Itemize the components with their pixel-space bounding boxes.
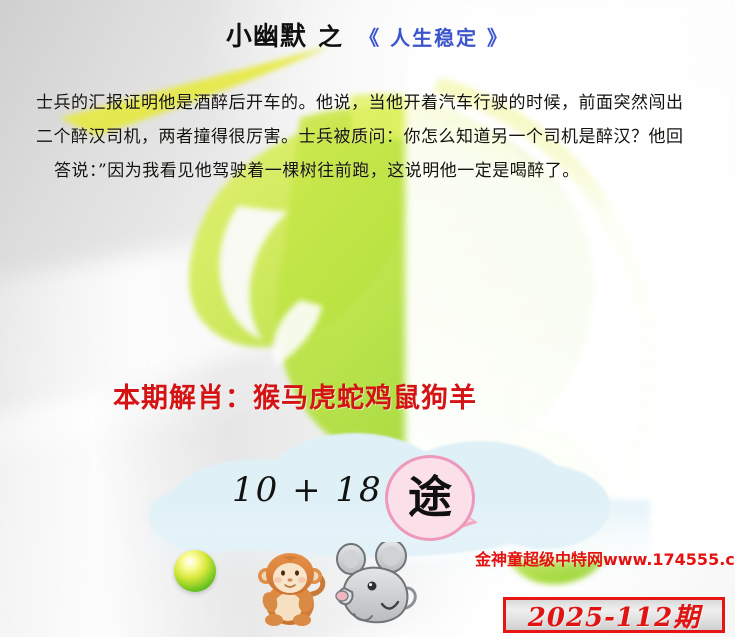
issue-badge: 2025-112期 bbox=[503, 597, 725, 633]
story-line-2: 二个醉汉司机，两者撞得很厉害。士兵被质问：你怎么知道另一个司机是醉汉？他回 bbox=[36, 120, 708, 154]
title-subtitle-text: 《 人生稳定 》 bbox=[359, 26, 509, 50]
monkey-icon bbox=[256, 546, 328, 632]
poster-title: 小幽默 之 《 人生稳定 》 bbox=[0, 16, 735, 53]
poster-canvas: 小幽默 之 《 人生稳定 》 士兵的汇报证明他是酒醉后开车的。他说，当他开着汽车… bbox=[0, 0, 735, 637]
title-main-text: 小幽默 bbox=[226, 22, 307, 52]
mouse-icon bbox=[334, 542, 418, 634]
story-line-3: 答说：”因为我看见他驾驶着一棵树往前跑，这说明他一定是喝醉了。 bbox=[36, 154, 708, 188]
answer-character: 途 bbox=[408, 476, 452, 520]
green-ball-icon bbox=[174, 550, 216, 592]
story-line-1: 士兵的汇报证明他是酒醉后开车的。他说，当他开着汽车行驶的时候，前面突然闯出 bbox=[36, 86, 708, 120]
issue-number-text: 2025-112期 bbox=[528, 597, 700, 634]
zodiac-headline: 本期解肖：猴马虎蛇鸡鼠狗羊 bbox=[113, 376, 477, 415]
answer-speech-bubble: 途 bbox=[385, 455, 475, 541]
site-watermark: 金神童超级中特网www.174555.com bbox=[475, 546, 735, 570]
title-connector-text: 之 bbox=[318, 23, 342, 51]
story-text-block: 士兵的汇报证明他是酒醉后开车的。他说，当他开着汽车行驶的时候，前面突然闯出 二个… bbox=[36, 86, 708, 188]
